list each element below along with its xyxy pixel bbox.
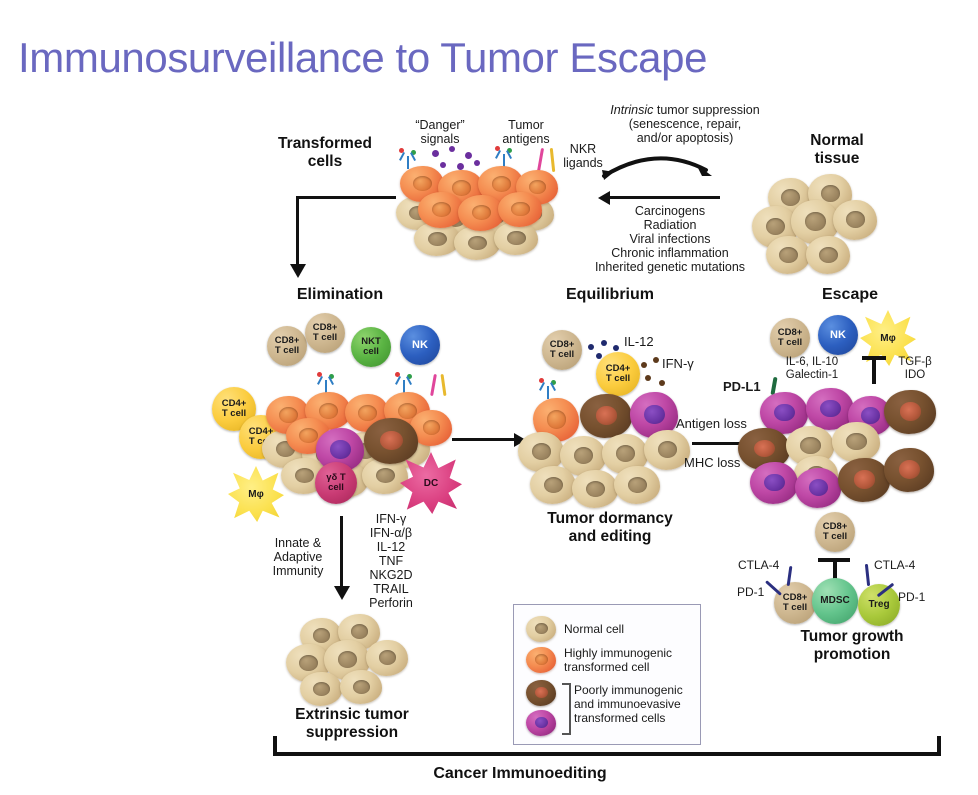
nkr-ligand-icon: [430, 374, 437, 396]
suppressive-factors-right: TGF-β IDO: [885, 356, 945, 382]
legend-hi-line2: transformed cell: [564, 660, 672, 674]
normal-cell: [300, 672, 342, 706]
immune-cell-line2: cell: [363, 346, 379, 357]
legend-poor-line3: transformed cells: [574, 711, 683, 725]
suppressive-factors-left: IL-6, IL-10 Galectin-1: [766, 356, 858, 382]
phase-label-equilibrium: Equilibrium: [545, 286, 675, 304]
danger-signal-dot: [465, 152, 472, 159]
immunity-line3: Immunity: [262, 564, 334, 578]
effector-item: IL-12: [350, 540, 432, 554]
immune-cell-mdsc: MDSC: [812, 578, 858, 624]
danger-signals-label: “Danger” signals: [400, 118, 480, 146]
innate-adaptive-immunity-label: Innate & Adaptive Immunity: [262, 536, 334, 578]
intrinsic-suppression-label: Intrinsic tumor suppression (senescence,…: [570, 103, 800, 145]
dendritic-cell: DC: [400, 452, 462, 514]
transformed-cell: [458, 195, 504, 231]
poorly-immunogenic-purple-cell: [795, 468, 841, 508]
checkpoint-pd1-right: PD-1: [898, 590, 925, 604]
macrophage-label: Mφ: [248, 489, 263, 500]
intrinsic-line3: and/or apoptosis): [570, 131, 800, 145]
transformed-cells-label: Transformed cells: [245, 135, 405, 171]
ifng-dot: [641, 362, 647, 368]
intrinsic-italic-word: Intrinsic: [610, 103, 653, 117]
immune-cell-gamma-delta-t-cell: γδ Tcell: [315, 462, 357, 504]
tumor-antigen-receptor-icon: [540, 378, 556, 398]
normal-cell: [806, 236, 850, 274]
immune-cell-cd8-t-cell: CD8+T cell: [770, 318, 810, 358]
immune-cell-treg: Treg: [858, 584, 900, 626]
macrophage-cell: Mφ: [228, 466, 284, 522]
effector-item: TRAIL: [350, 582, 432, 596]
legend-swatch-poorly-immunogenic-purple: [526, 710, 556, 736]
macrophage-label: Mφ: [880, 333, 895, 344]
immune-cell-line2: T cell: [275, 345, 299, 356]
dendritic-label: DC: [424, 478, 438, 489]
carcinogen-arrow-line: [610, 196, 720, 199]
transformed-cell: [498, 192, 542, 227]
intrinsic-line1-rest: tumor suppression: [653, 103, 759, 117]
immune-cell-line2: T cell: [606, 373, 630, 384]
phase-label-escape: Escape: [800, 286, 900, 304]
ifng-dot: [659, 380, 665, 386]
poorly-immunogenic-brown-cell: [580, 394, 632, 438]
immune-cell-nk-cell: NK: [400, 325, 440, 365]
carcinogen-item: Radiation: [575, 218, 765, 232]
poorly-immunogenic-brown-cell: [884, 448, 934, 492]
nkr-ligand-icon: [537, 148, 544, 172]
legend-label-highly-immunogenic: Highly immunogenic transformed cell: [564, 646, 672, 674]
intrinsic-line2: (senescence, repair,: [570, 117, 800, 131]
effector-item: IFN-γ: [350, 512, 432, 526]
legend-label-normal-cell: Normal cell: [564, 622, 624, 636]
transformed-cells-line2: cells: [245, 153, 405, 171]
poorly-immunogenic-brown-cell: [364, 418, 418, 464]
slide-canvas: Immunosurveillance to Tumor Escape Trans…: [0, 0, 978, 795]
il12-dot: [601, 340, 607, 346]
normal-tissue-line1: Normal: [782, 132, 892, 150]
carcinogen-item: Carcinogens: [575, 204, 765, 218]
effector-item: IFN-α/β: [350, 526, 432, 540]
cancer-immunoediting-bracket-left-tick: [273, 736, 277, 756]
immune-cell-line2: T cell: [313, 332, 337, 343]
tumor-antigen-receptor-icon: [400, 148, 416, 168]
tumor-antigen-receptor-icon: [318, 372, 334, 392]
immune-cell-line2: T cell: [783, 602, 807, 613]
normal-cell: [833, 200, 877, 240]
nkr-ligand-icon: [440, 374, 446, 396]
elimination-elbow-vertical: [296, 196, 299, 268]
tumor-growth-promotion-label: Tumor growth promotion: [762, 628, 942, 664]
ifng-dot: [645, 375, 651, 381]
cytokine-ifng-label: IFN-γ: [662, 356, 694, 371]
tumor-dormancy-label: Tumor dormancy and editing: [528, 510, 692, 546]
normal-cell: [832, 422, 880, 462]
il12-dot: [596, 353, 602, 359]
elimination-effector-arrowhead: [334, 586, 350, 600]
danger-signals-line1: “Danger”: [400, 118, 480, 132]
carcinogen-list: Carcinogens Radiation Viral infections C…: [575, 204, 765, 274]
footer-caption: Cancer Immunoediting: [400, 765, 640, 783]
il12-dot: [613, 345, 619, 351]
danger-signal-dot: [457, 163, 464, 170]
cancer-immunoediting-bracket-line: [273, 752, 941, 756]
carcinogen-item: Viral infections: [575, 232, 765, 246]
ifng-dot: [653, 357, 659, 363]
normal-cell: [572, 470, 618, 508]
intrinsic-line1: Intrinsic tumor suppression: [570, 103, 800, 117]
poorly-immunogenic-purple-cell: [750, 462, 798, 504]
legend-swatch-poorly-immunogenic-brown: [526, 680, 556, 706]
growth-line2: promotion: [762, 646, 942, 664]
suppressive-left-line1: IL-6, IL-10: [766, 356, 858, 369]
immunity-line2: Adaptive: [262, 550, 334, 564]
immune-cell-line1: NK: [412, 339, 428, 351]
legend-label-poorly-immunogenic: Poorly immunogenic and immunoevasive tra…: [574, 683, 683, 725]
antigen-loss-label: Antigen loss: [676, 416, 747, 431]
elimination-elbow-horizontal: [296, 196, 396, 199]
effector-item: TNF: [350, 554, 432, 568]
poorly-immunogenic-brown-cell: [838, 458, 890, 502]
danger-signal-dot: [474, 160, 480, 166]
dormancy-line1: Tumor dormancy: [528, 510, 692, 528]
legend-swatch-highly-immunogenic-cell: [526, 647, 556, 673]
immune-cell-nk-cell: NK: [818, 315, 858, 355]
normal-cell: [530, 466, 576, 504]
suppressive-left-line2: Galectin-1: [766, 369, 858, 382]
ctla4-spike-icon: [865, 564, 870, 586]
extrinsic-suppression-label: Extrinsic tumor suppression: [272, 706, 432, 742]
carcinogen-item: Inherited genetic mutations: [575, 260, 765, 274]
normal-tissue-label: Normal tissue: [782, 132, 892, 168]
legend-panel: Normal cell Highly immunogenic transform…: [513, 604, 701, 745]
mhc-loss-label: MHC loss: [684, 455, 740, 470]
legend-poor-line2: and immunoevasive: [574, 697, 683, 711]
tumor-antigen-receptor-icon: [396, 372, 412, 392]
normal-cell: [614, 466, 660, 504]
suppressive-right-line1: TGF-β: [885, 356, 945, 369]
immune-cell-line2: T cell: [550, 349, 574, 360]
legend-grouping-bracket: [562, 683, 571, 735]
immune-cell-cd8-t-cell: CD8+T cell: [267, 326, 307, 366]
danger-signal-dot: [449, 146, 455, 152]
danger-signal-dot: [432, 150, 439, 157]
legend-poor-line1: Poorly immunogenic: [574, 683, 683, 697]
normal-cell: [766, 236, 810, 274]
immune-cell-cd8-t-cell: CD8+T cell: [542, 330, 582, 370]
elimination-elbow-arrowhead: [290, 264, 306, 278]
normal-cell: [494, 222, 538, 255]
immune-cell-line1: Treg: [868, 599, 889, 610]
dormancy-line2: and editing: [528, 528, 692, 546]
elimination-to-equilibrium-line: [452, 438, 514, 441]
immune-cell-cd4-t-cell: CD4+T cell: [596, 352, 640, 396]
page-title: Immunosurveillance to Tumor Escape: [18, 33, 707, 83]
immune-cell-line2: T cell: [222, 408, 246, 419]
normal-cell: [454, 226, 500, 260]
normal-cell: [340, 670, 382, 704]
immune-cell-line2: cell: [328, 482, 344, 493]
tumor-antigens-line1: Tumor: [487, 118, 565, 132]
suppressive-right-line2: IDO: [885, 369, 945, 382]
transformed-cells-line1: Transformed: [245, 135, 405, 153]
checkpoint-pd1-left: PD-1: [737, 585, 764, 599]
immune-cell-line2: T cell: [823, 531, 847, 542]
immunity-line1: Innate &: [262, 536, 334, 550]
immune-cell-line1: MDSC: [820, 595, 849, 606]
immune-cell-nkt-cell: NKTcell: [351, 327, 391, 367]
il12-dot: [588, 344, 594, 350]
inhibition-bar-stem: [872, 356, 876, 384]
effector-item: Perforin: [350, 596, 432, 610]
immune-cell-line1: NK: [830, 329, 846, 341]
poorly-immunogenic-brown-cell: [884, 390, 936, 434]
danger-signal-dot: [440, 162, 446, 168]
legend-swatch-normal-cell: [526, 616, 556, 642]
elimination-effector-arrow-line: [340, 516, 343, 588]
danger-signals-line2: signals: [400, 132, 480, 146]
checkpoint-ctla4-left: CTLA-4: [738, 558, 779, 572]
pd-l1-label: PD-L1: [723, 379, 761, 394]
cytokine-il12-label: IL-12: [624, 334, 654, 349]
immune-cell-cd8-t-cell: CD8+T cell: [774, 582, 816, 624]
checkpoint-ctla4-right: CTLA-4: [874, 558, 915, 572]
carcinogen-arrow-head: [598, 191, 610, 205]
extrinsic-line2: suppression: [272, 724, 432, 742]
intrinsic-suppression-arrow: [600, 148, 720, 184]
effector-molecule-list: IFN-γ IFN-α/β IL-12 TNF NKG2D TRAIL Perf…: [350, 512, 432, 610]
suppression-bar-top: [818, 558, 850, 562]
normal-tissue-line2: tissue: [782, 150, 892, 168]
carcinogen-item: Chronic inflammation: [575, 246, 765, 260]
tumor-antigen-receptor-icon: [496, 146, 512, 166]
phase-label-elimination: Elimination: [280, 286, 400, 304]
normal-cell: [366, 640, 408, 676]
cancer-immunoediting-bracket-right-tick: [937, 736, 941, 756]
immune-cell-line2: T cell: [778, 337, 802, 348]
legend-hi-line1: Highly immunogenic: [564, 646, 672, 660]
immune-cell-cd8-t-cell: CD8+T cell: [815, 512, 855, 552]
growth-line1: Tumor growth: [762, 628, 942, 646]
extrinsic-line1: Extrinsic tumor: [272, 706, 432, 724]
immune-cell-cd8-t-cell: CD8+T cell: [305, 313, 345, 353]
effector-item: NKG2D: [350, 568, 432, 582]
